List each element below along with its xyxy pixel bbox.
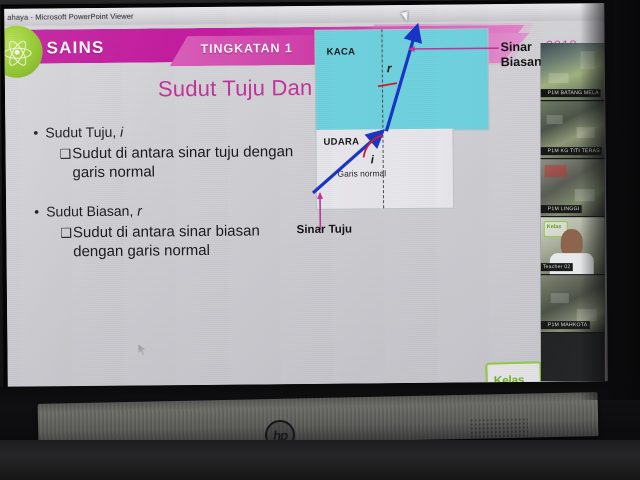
subbullet-item-2: ❑ Sudut di antara sinar biasan dengan ga… [60, 221, 296, 261]
slide-bullet-list: • Sudut Tuju, i ❑ Sudut di antara sinar … [33, 121, 296, 262]
participant-name: P1M LINGGI [541, 205, 582, 213]
refracted-ray-label: Sinar Biasan [501, 40, 542, 70]
subbullet-marker: ❑ [60, 223, 72, 261]
powerpoint-slide: SAINS TINGKATAN 1 2018 Sudut Tuju Dan Su… [4, 20, 607, 387]
background-vignette [580, 0, 640, 400]
subbullet-marker: ❑ [60, 144, 72, 182]
bullet-marker: • [33, 123, 45, 142]
bullet-symbol: r [137, 203, 142, 219]
bullet-marker: • [34, 202, 46, 221]
photo-scene: ahaya - Microsoft PowerPoint Viewer SAIN… [0, 0, 640, 480]
subject-label: SAINS [46, 38, 104, 59]
bullet-text: Sudut Biasan, r [46, 202, 142, 222]
bullet-item-2: • Sudut Biasan, r [34, 200, 296, 222]
incident-ray-label: Sinar Tuju [294, 223, 354, 238]
atom-icon [4, 37, 32, 67]
bullet-text: Sudut Tuju, i [45, 123, 123, 143]
desk-surface [0, 440, 640, 480]
laptop-speaker-grille [470, 417, 528, 440]
refraction-diagram: KACA UDARA Garis normal [314, 28, 488, 210]
bullet-item-1: • Sudut Tuju, i [33, 121, 295, 143]
incident-ray-text: Sinar Tuju [297, 224, 352, 237]
laptop-display: ahaya - Microsoft PowerPoint Viewer SAIN… [4, 3, 608, 387]
angle-refraction-label: r [387, 61, 392, 75]
level-label: TINGKATAN 1 [201, 41, 293, 56]
angle-r-arc [375, 77, 401, 95]
angle-i-arc [355, 133, 395, 173]
angle-incidence-label: i [371, 154, 374, 166]
subbullet-text: Sudut di antara sinar biasan dengan gari… [73, 221, 297, 261]
bullet-spacer [34, 180, 296, 203]
window-title: ahaya - Microsoft PowerPoint Viewer [4, 12, 133, 22]
slide-title: Sudut Tuju Dan Sudut Biasan [5, 72, 605, 104]
subbullet-item-1: ❑ Sudut di antara sinar tuju dengan gari… [60, 142, 296, 182]
refracted-ray-text: Sinar Biasan [501, 40, 542, 69]
participant-name: Teacher 02 [541, 263, 573, 271]
bullet-symbol: i [120, 124, 123, 140]
mouse-cursor-slide [138, 345, 147, 356]
glass-label: KACA [327, 47, 356, 58]
refracted-ray-pointer [407, 42, 503, 55]
subbullet-text: Sudut di antara sinar tuju dengan garis … [72, 142, 296, 182]
